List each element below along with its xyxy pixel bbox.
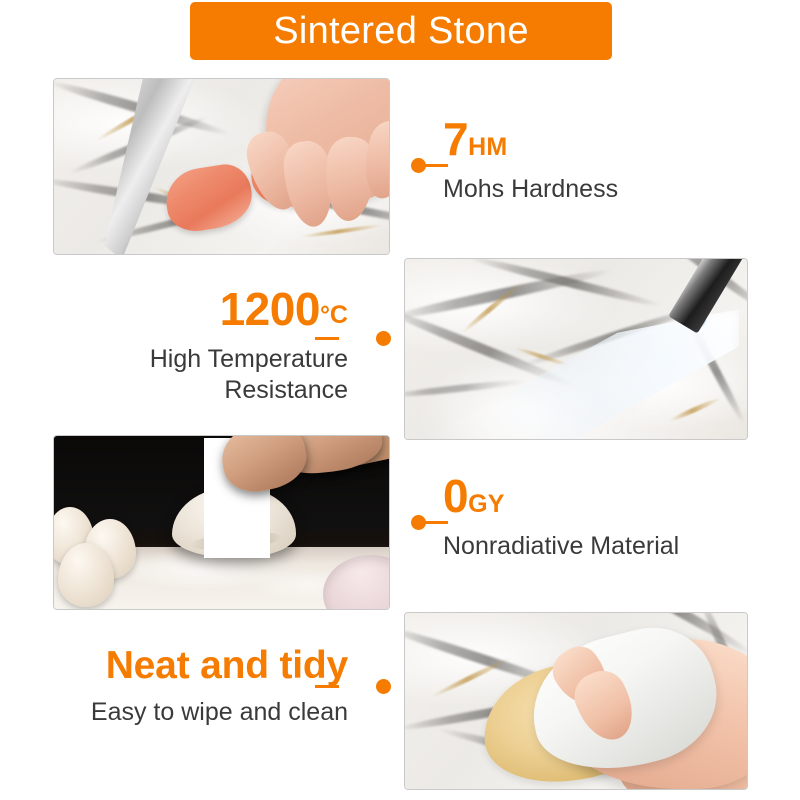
feature-metric-mohs-hardness: 7HM <box>443 116 763 162</box>
feature-text-high-temperature-resistance: 1200°C High Temperature Resistance <box>40 286 348 406</box>
feature-caption-high-temperature-resistance: High Temperature Resistance <box>40 344 348 406</box>
metric-value: 0 <box>443 470 468 522</box>
page-title: Sintered Stone <box>273 12 529 50</box>
feature-metric-nonradiative-material: 0GY <box>443 473 773 519</box>
feature-metric-high-temperature-resistance: 1200°C <box>40 286 348 332</box>
feature-caption-mohs-hardness: Mohs Hardness <box>443 174 763 205</box>
bullet-dot-icon <box>376 331 391 346</box>
salmon-slice <box>162 161 257 236</box>
feature-metric-neat-and-tidy: Neat and tidy <box>30 646 348 685</box>
feature-caption-nonradiative-material: Nonradiative Material <box>443 531 773 562</box>
header-banner: Sintered Stone <box>190 2 612 60</box>
feature-row-neat-and-tidy: Neat and tidy Easy to wipe and clean <box>0 612 800 792</box>
marble-surface <box>405 259 747 439</box>
metric-value: 1200 <box>220 283 320 335</box>
bullet-dot-icon <box>376 679 391 694</box>
feature-text-mohs-hardness: 7HM Mohs Hardness <box>443 116 763 205</box>
feature-caption-neat-and-tidy: Easy to wipe and clean <box>30 697 348 728</box>
feature-photo-knife-cutting-salmon <box>53 78 390 255</box>
dough-scene <box>54 436 389 609</box>
metric-unit: HM <box>468 133 507 161</box>
feature-text-nonradiative-material: 0GY Nonradiative Material <box>443 473 773 562</box>
feature-photo-wiping-stain <box>404 612 748 790</box>
marble-surface <box>405 613 747 789</box>
feature-photo-kneading-dough <box>53 435 390 610</box>
marble-surface <box>54 79 389 254</box>
metric-value: 7 <box>443 113 468 165</box>
feature-row-nonradiative-material: 0GY Nonradiative Material <box>0 435 800 613</box>
feature-text-neat-and-tidy: Neat and tidy Easy to wipe and clean <box>30 646 348 728</box>
feature-photo-blowtorch-flame <box>404 258 748 440</box>
metric-unit: °C <box>320 301 348 329</box>
feature-row-high-temperature-resistance: 1200°C High Temperature Resistance <box>0 258 800 442</box>
feature-row-mohs-hardness: 7HM Mohs Hardness <box>0 78 800 258</box>
metric-unit: GY <box>468 490 505 518</box>
metric-value: Neat and tidy <box>106 644 348 687</box>
